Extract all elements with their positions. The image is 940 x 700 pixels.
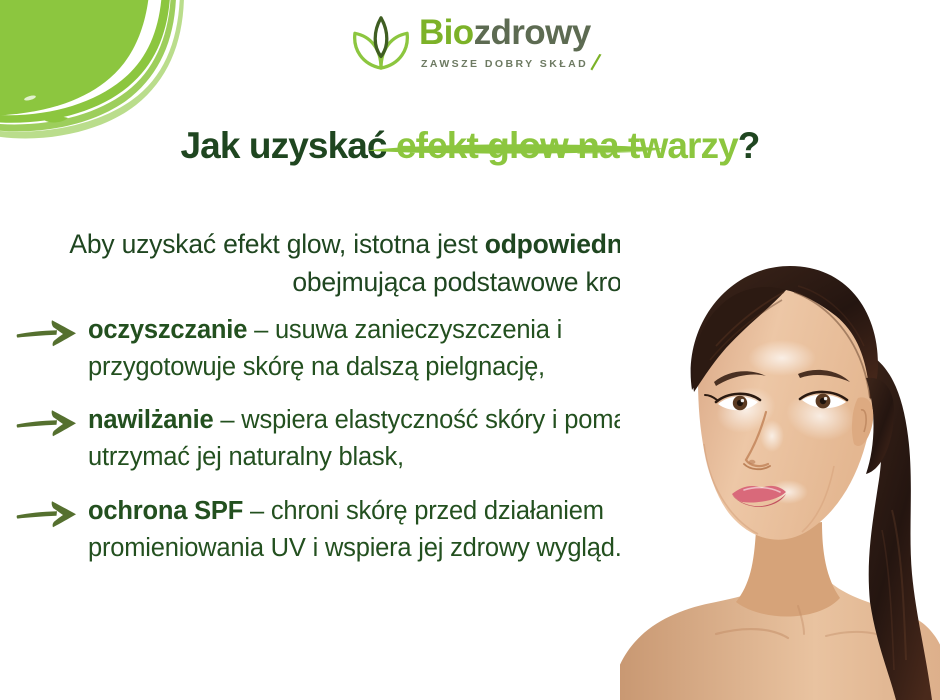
list-item-label: nawilżanie: [88, 406, 214, 434]
list-item: nawilżanie – wspiera elastyczność skóry …: [16, 402, 716, 475]
list-item-text: nawilżanie – wspiera elastyczność skóry …: [80, 402, 716, 475]
arrow-right-icon: [16, 497, 80, 531]
brand-tagline: ZAWSZE DOBRY SKŁAD: [421, 59, 588, 70]
list-item-label: ochrona SPF: [88, 497, 243, 525]
page-title-accent: efekt glow na twarzy: [396, 125, 738, 166]
arrow-right-icon: [16, 316, 80, 350]
list-item-text: oczyszczanie – usuwa zanieczyszczenia i …: [80, 312, 716, 385]
page-title-part-2: ?: [738, 125, 760, 166]
page-title-part-1: Jak uzyskać: [181, 125, 396, 166]
infographic-canvas: Biozdrowy ZAWSZE DOBRY SKŁAD Jak uzyskać…: [0, 0, 940, 700]
skincare-steps-list: oczyszczanie – usuwa zanieczyszczenia i …: [16, 312, 716, 583]
intro-paragraph: Aby uzyskać efekt glow, istotna jest odp…: [40, 225, 900, 303]
list-item: ochrona SPF – chroni skórę przed działan…: [16, 493, 716, 566]
intro-text-2: obejmująca podstawowe kroki:: [292, 267, 647, 297]
page-title: Jak uzyskać efekt glow na twarzy?: [0, 125, 940, 167]
arrow-right-icon: [16, 406, 80, 440]
slash-accent-icon: [590, 54, 603, 71]
list-item-label: oczyszczanie: [88, 316, 247, 344]
brand-wordmark: Biozdrowy: [419, 15, 591, 50]
sprout-leaf-logo-icon: [352, 14, 410, 70]
list-item-text: ochrona SPF – chroni skórę przed działan…: [80, 493, 716, 566]
intro-text-1: Aby uzyskać efekt glow, istotna jest: [69, 229, 484, 259]
brand-logo[interactable]: Biozdrowy ZAWSZE DOBRY SKŁAD: [352, 14, 603, 70]
brand-wordmark-zdrowy: zdrowy: [474, 13, 591, 52]
intro-bold: odpowiednia pielęgnacja skóry: [485, 229, 871, 259]
list-item: oczyszczanie – usuwa zanieczyszczenia i …: [16, 312, 716, 385]
brand-wordmark-bio: Bio: [419, 13, 474, 52]
